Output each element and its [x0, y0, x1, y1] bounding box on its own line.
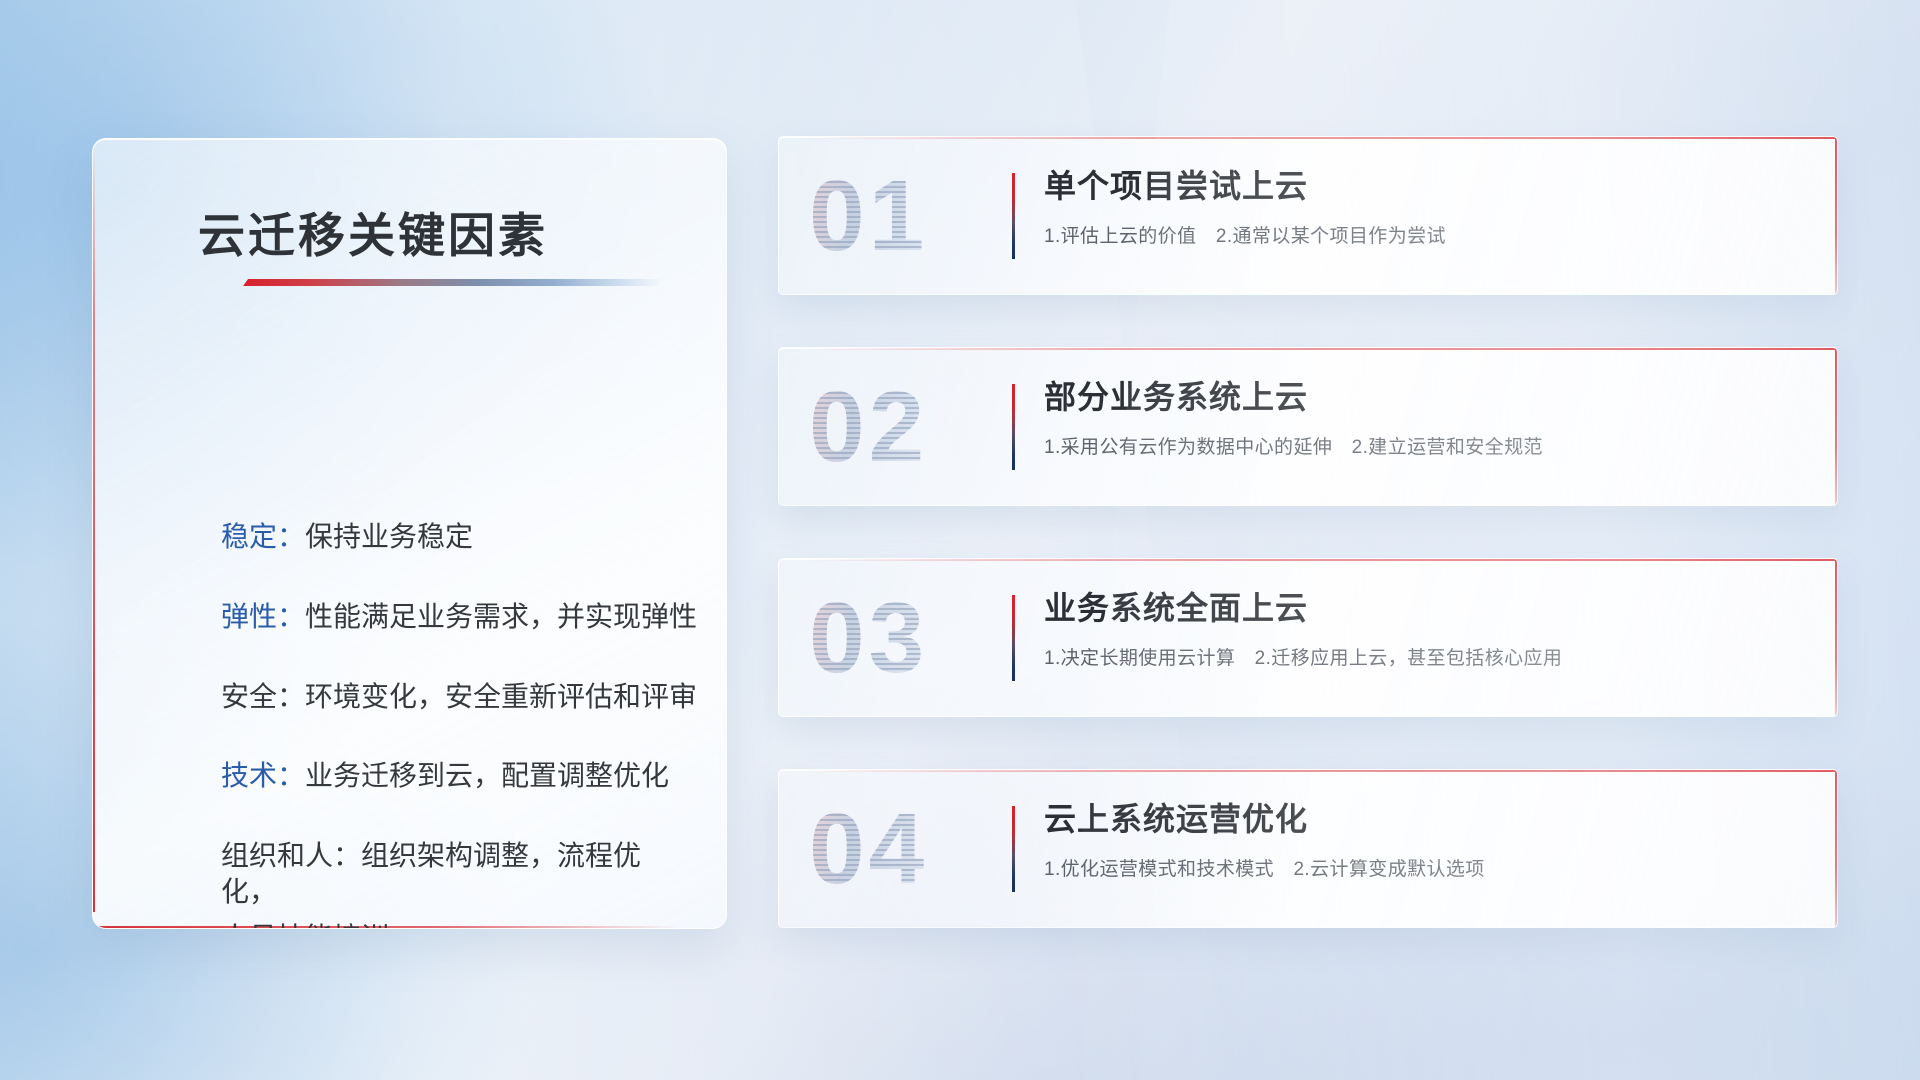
list-item: 技术：业务迁移到云，配置调整优化: [221, 758, 690, 794]
key-factors-card: 云迁移关键因素 稳定：保持业务稳定 弹性：性能满足业务需求，并实现弹性 安全：环…: [92, 138, 727, 929]
step-title: 部分业务系统上云: [1044, 378, 1813, 416]
list-item: 组织和人：组织架构调整，流程优化，: [221, 838, 690, 910]
page-title: 云迁移关键因素: [198, 197, 548, 266]
card-right-accent-line: [1835, 770, 1837, 927]
title-underline-gradient: [243, 279, 663, 286]
step-title: 业务系统全面上云: [1044, 589, 1813, 627]
step-text-block: 单个项目尝试上云 1.评估上云的价值 2.通常以某个项目作为尝试: [1044, 167, 1813, 248]
step-card-02[interactable]: 02 部分业务系统上云 1.采用公有云作为数据中心的延伸 2.建立运营和安全规范: [778, 347, 1838, 506]
card-top-accent-line: [803, 559, 1837, 561]
slide-canvas: 云迁移关键因素 稳定：保持业务稳定 弹性：性能满足业务需求，并实现弹性 安全：环…: [0, 0, 1920, 1080]
step-number: 01: [809, 166, 928, 266]
card-top-accent-line: [803, 770, 1837, 772]
list-item-continuation: 人员技能培训: [221, 920, 690, 929]
list-item-label: 弹性：: [221, 601, 305, 632]
list-item-value: 业务迁移到云，配置调整优化: [305, 760, 669, 791]
list-item-value: 保持业务稳定: [305, 521, 473, 552]
list-item-label: 稳定：: [221, 521, 305, 552]
list-item-label: 安全：: [221, 681, 305, 712]
migration-steps-list: 01 单个项目尝试上云 1.评估上云的价值 2.通常以某个项目作为尝试 02 部…: [778, 136, 1838, 980]
step-card-03[interactable]: 03 业务系统全面上云 1.决定长期使用云计算 2.迁移应用上云，甚至包括核心应…: [778, 558, 1838, 717]
card-left-accent-line: [93, 149, 95, 912]
step-title: 云上系统运营优化: [1044, 800, 1813, 838]
list-item-value: 性能满足业务需求，并实现弹性: [305, 601, 697, 632]
step-card-01[interactable]: 01 单个项目尝试上云 1.评估上云的价值 2.通常以某个项目作为尝试: [778, 136, 1838, 295]
list-item-label: 技术：: [221, 760, 305, 791]
card-right-accent-line: [1835, 137, 1837, 294]
step-card-04[interactable]: 04 云上系统运营优化 1.优化运营模式和技术模式 2.云计算变成默认选项: [778, 769, 1838, 928]
step-divider-bar: [1012, 806, 1015, 892]
step-divider-bar: [1012, 595, 1015, 681]
list-item: 弹性：性能满足业务需求，并实现弹性: [221, 599, 690, 635]
step-number: 04: [809, 799, 928, 899]
step-divider-bar: [1012, 173, 1015, 259]
key-factors-list: 稳定：保持业务稳定 弹性：性能满足业务需求，并实现弹性 安全：环境变化，安全重新…: [221, 519, 690, 929]
step-description: 1.优化运营模式和技术模式 2.云计算变成默认选项: [1044, 854, 1813, 881]
list-item-value: 环境变化，安全重新评估和评审: [305, 681, 697, 712]
step-description: 1.采用公有云作为数据中心的延伸 2.建立运营和安全规范: [1044, 432, 1813, 459]
step-text-block: 部分业务系统上云 1.采用公有云作为数据中心的延伸 2.建立运营和安全规范: [1044, 378, 1813, 459]
list-item: 安全：环境变化，安全重新评估和评审: [221, 679, 690, 715]
step-description: 1.评估上云的价值 2.通常以某个项目作为尝试: [1044, 221, 1813, 248]
card-right-accent-line: [1835, 348, 1837, 505]
step-divider-bar: [1012, 384, 1015, 470]
step-text-block: 业务系统全面上云 1.决定长期使用云计算 2.迁移应用上云，甚至包括核心应用: [1044, 589, 1813, 670]
list-item-label: 组织和人：: [221, 840, 361, 871]
step-number: 03: [809, 588, 928, 688]
step-number: 02: [809, 377, 928, 477]
card-top-accent-line: [803, 348, 1837, 350]
list-item: 稳定：保持业务稳定: [221, 519, 690, 555]
step-title: 单个项目尝试上云: [1044, 167, 1813, 205]
step-text-block: 云上系统运营优化 1.优化运营模式和技术模式 2.云计算变成默认选项: [1044, 800, 1813, 881]
step-description: 1.决定长期使用云计算 2.迁移应用上云，甚至包括核心应用: [1044, 643, 1813, 670]
card-top-accent-line: [803, 137, 1837, 139]
card-right-accent-line: [1835, 559, 1837, 716]
